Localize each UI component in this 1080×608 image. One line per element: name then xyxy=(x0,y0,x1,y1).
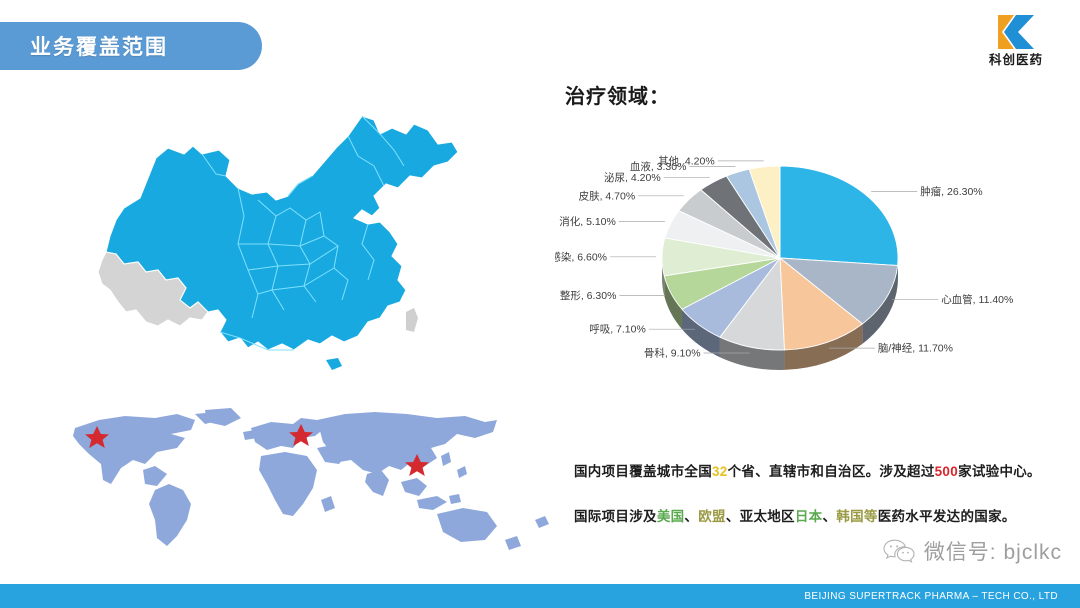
footer-bar: BEIJING SUPERTRACK PHARMA – TECH CO., LT… xyxy=(0,584,1080,608)
wechat-watermark: 微信号: bjclkc xyxy=(882,536,1062,566)
pie-slice-label: 肿瘤, 26.30% xyxy=(920,185,982,198)
intl-region-eu: 欧盟 xyxy=(698,509,726,524)
intl-text-part3: 医药水平发达的国家。 xyxy=(878,509,1016,524)
pie-slice-label: 心血管, 11.40% xyxy=(941,293,1013,306)
logo-company-name: 科创医药 xyxy=(968,53,1064,67)
intl-region-usa: 美国 xyxy=(657,509,685,524)
footer-company-text: BEIJING SUPERTRACK PHARMA – TECH CO., LT… xyxy=(804,591,1058,602)
intl-text-part1: 国际项目涉及 xyxy=(574,509,657,524)
domestic-text-part3: 家试验中心。 xyxy=(958,464,1041,479)
pie-slice[interactable] xyxy=(780,166,898,266)
intl-sep1: 、 xyxy=(684,509,698,524)
domestic-center-count: 500 xyxy=(935,464,958,479)
intl-region-japan: 日本 xyxy=(795,509,823,524)
world-landmass xyxy=(73,408,549,550)
world-map xyxy=(45,404,565,564)
page-title-banner: 业务覆盖范围 xyxy=(0,22,262,70)
pie-slice-label: 皮肤, 4.70% xyxy=(579,189,636,202)
pie-slice-label: 整形, 6.30% xyxy=(560,289,617,302)
watermark-text: 微信号: bjclkc xyxy=(924,536,1062,566)
domestic-province-count: 32 xyxy=(712,464,728,479)
domestic-coverage-text: 国内项目覆盖城市全国32个省、直辖市和自治区。涉及超过500家试验中心。 xyxy=(574,462,1074,482)
pie-slices xyxy=(662,166,898,350)
domestic-text-part2: 个省、直辖市和自治区。涉及超过 xyxy=(728,464,935,479)
china-hainan xyxy=(326,358,342,370)
intl-region-korea: 韩国等 xyxy=(836,509,877,524)
logo-k-mark xyxy=(968,12,1064,52)
intl-sep2: 、 xyxy=(726,509,740,524)
china-map xyxy=(62,104,482,404)
pie-slice-label: 骨科, 9.10% xyxy=(644,346,701,359)
pie-slice-label: 消化, 5.10% xyxy=(559,215,616,228)
intl-text-part2: 亚太地区 xyxy=(740,509,795,524)
wechat-icon xyxy=(882,538,916,564)
pie-slice-label: 其他, 4.20% xyxy=(658,154,715,167)
company-logo: 科创医药 xyxy=(968,12,1064,74)
china-taiwan xyxy=(406,308,418,332)
chart-title: 治疗领域： xyxy=(565,80,670,109)
pie-slice-label: 感染, 6.60% xyxy=(555,250,607,263)
slide-canvas: 业务覆盖范围 科创医药 xyxy=(0,0,1080,608)
pie-chart-svg: 肿瘤, 26.30%心血管, 11.40%脑/神经, 11.70%骨科, 9.1… xyxy=(555,110,1080,430)
intl-sep3: 、 xyxy=(822,509,836,524)
international-coverage-text: 国际项目涉及美国、欧盟、亚太地区日本、韩国等医药水平发达的国家。 xyxy=(574,507,1074,527)
therapeutic-area-pie-chart: 肿瘤, 26.30%心血管, 11.40%脑/神经, 11.70%骨科, 9.1… xyxy=(555,110,1080,430)
pie-slice-label: 脑/神经, 11.70% xyxy=(878,342,953,355)
page-title: 业务覆盖范围 xyxy=(30,31,168,61)
domestic-text-part1: 国内项目覆盖城市全国 xyxy=(574,464,712,479)
pie-slice-label: 呼吸, 7.10% xyxy=(589,324,646,336)
